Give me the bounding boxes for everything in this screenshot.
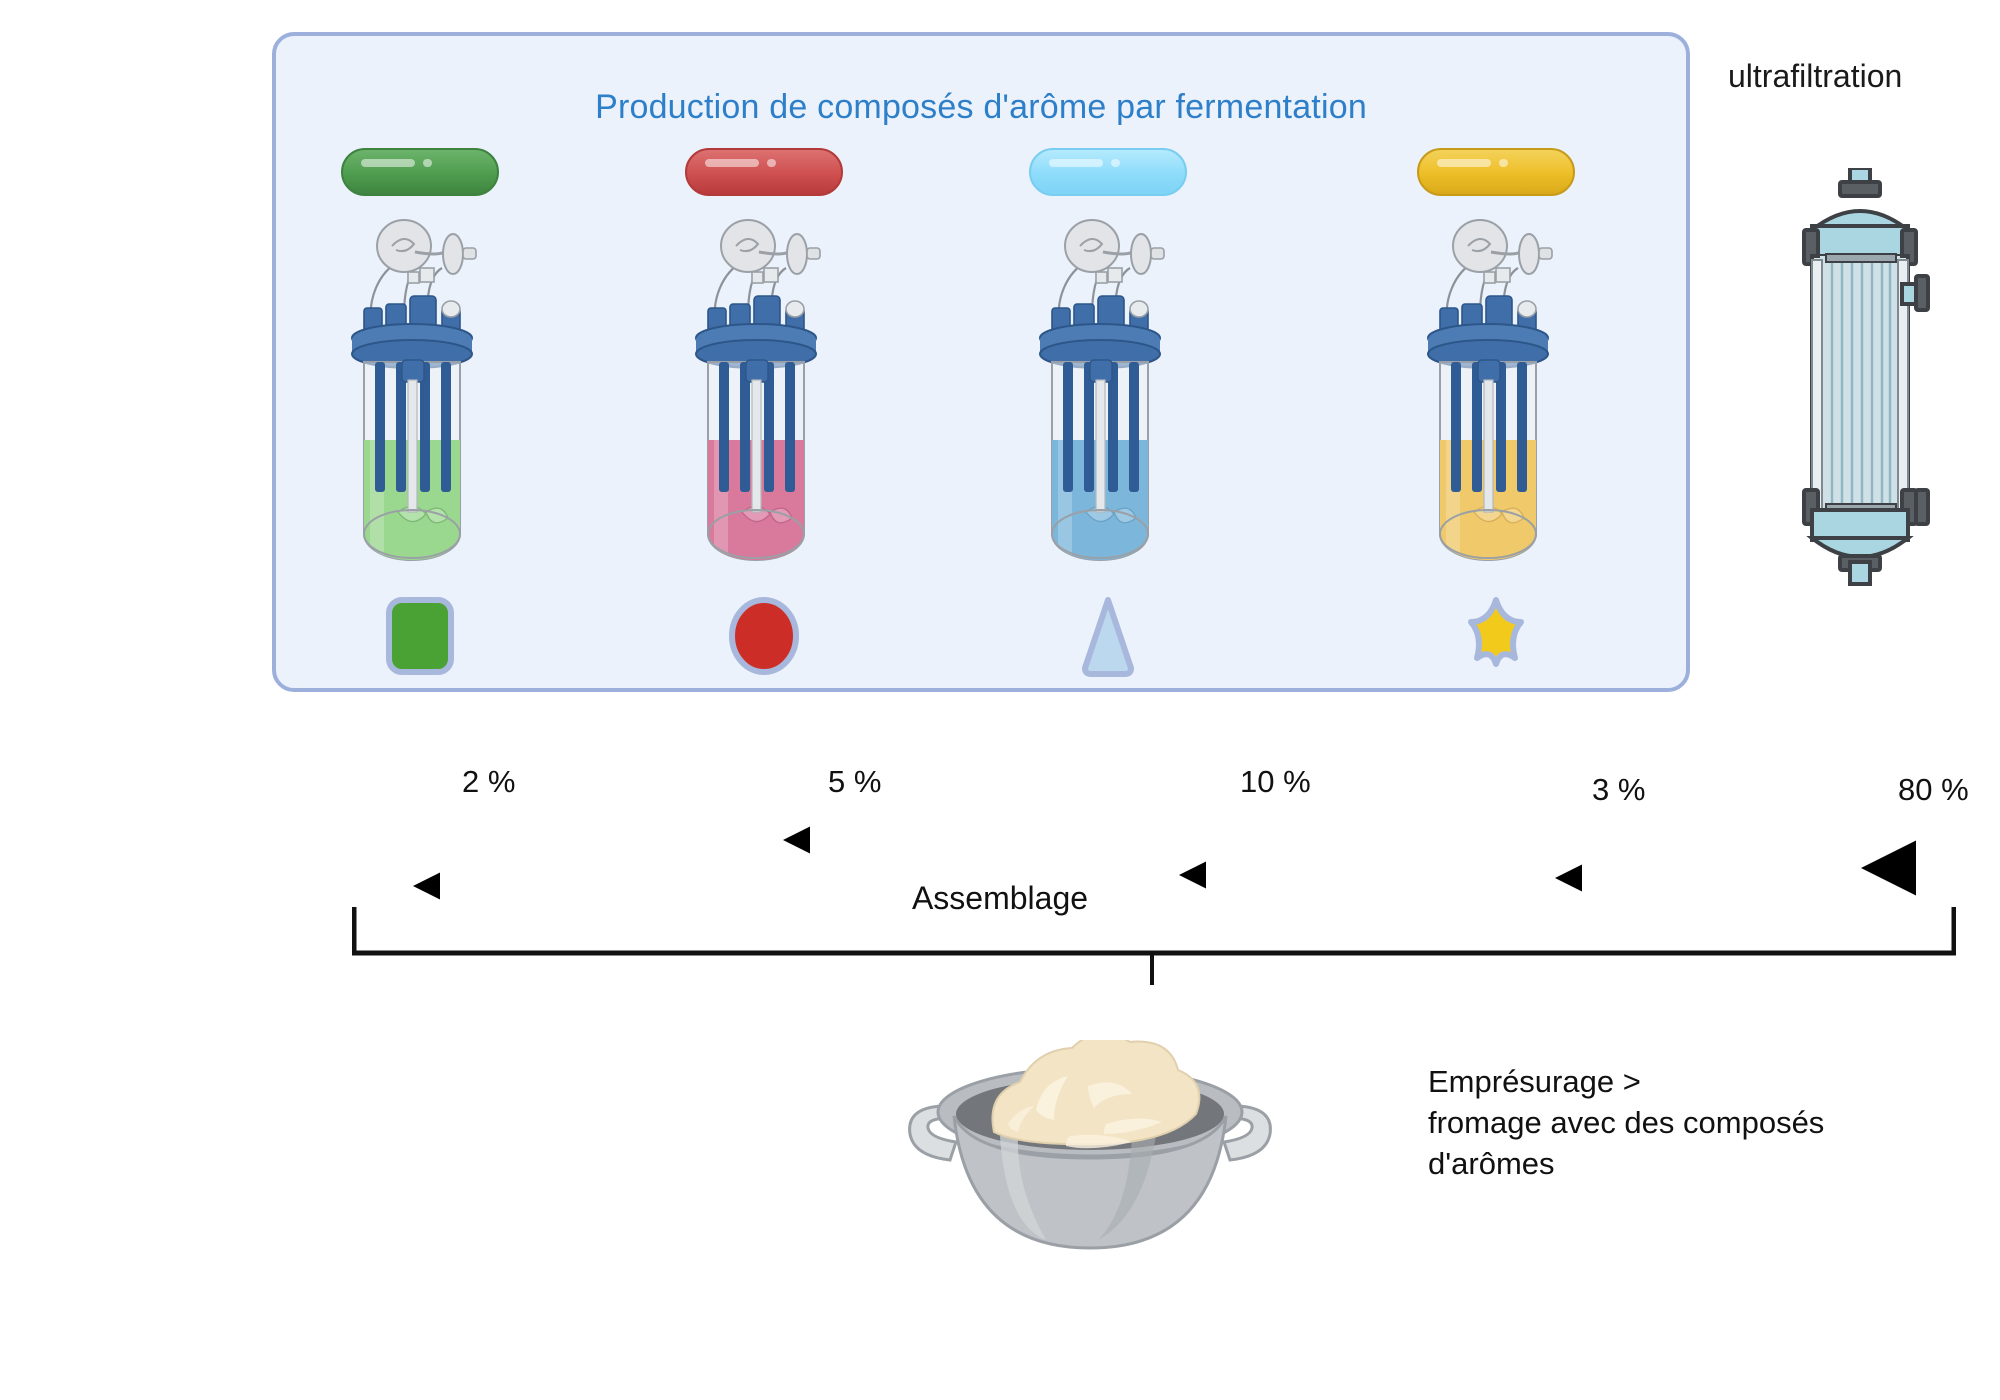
bacterium-blue-icon bbox=[1029, 148, 1187, 196]
fermentation-column-2 bbox=[644, 36, 884, 688]
capsule-highlight bbox=[1437, 159, 1491, 167]
capsule-highlight-dot bbox=[767, 159, 776, 167]
percent-label-2: 5 % bbox=[828, 764, 881, 800]
bacterium-red-icon bbox=[685, 148, 843, 196]
fermentation-column-4 bbox=[1376, 36, 1616, 688]
assemblage-bracket bbox=[352, 905, 1956, 985]
bacterium-yellow-icon bbox=[1417, 148, 1575, 196]
capsule-highlight bbox=[361, 159, 415, 167]
cheese-bowl-icon bbox=[890, 1040, 1290, 1280]
percent-label-1: 2 % bbox=[462, 764, 515, 800]
compound-shape-2 bbox=[709, 592, 819, 682]
bioreactor-3 bbox=[1008, 212, 1208, 570]
fermentation-panel: Production de composés d'arôme par ferme… bbox=[272, 32, 1690, 692]
bacterium-green-icon bbox=[341, 148, 499, 196]
diagram-canvas: Production de composés d'arôme par ferme… bbox=[0, 0, 2000, 1400]
bioreactor-1 bbox=[320, 212, 520, 570]
compound-shape-3 bbox=[1053, 592, 1163, 682]
outcome-caption: Emprésurage > fromage avec des composés … bbox=[1428, 1062, 1968, 1185]
caption-line-2: fromage avec des composés bbox=[1428, 1103, 1968, 1144]
ultrafiltration-label: ultrafiltration bbox=[1728, 58, 2000, 95]
compound-shape-1 bbox=[365, 592, 475, 682]
bioreactor-4 bbox=[1396, 212, 1596, 570]
caption-line-1: Emprésurage > bbox=[1428, 1062, 1968, 1103]
capsule-highlight-dot bbox=[423, 159, 432, 167]
compound-shape-4 bbox=[1441, 592, 1551, 682]
capsule-highlight-dot bbox=[1111, 159, 1120, 167]
ultrafiltration-module-icon bbox=[1790, 168, 1930, 628]
percent-label-4: 3 % bbox=[1592, 772, 1645, 808]
bioreactor-2 bbox=[664, 212, 864, 570]
fermentation-column-3 bbox=[988, 36, 1228, 688]
fermentation-column-1 bbox=[300, 36, 540, 688]
capsule-highlight bbox=[705, 159, 759, 167]
capsule-highlight-dot bbox=[1499, 159, 1508, 167]
percent-label-3: 10 % bbox=[1240, 764, 1311, 800]
percent-label-ultrafiltration: 80 % bbox=[1898, 772, 1969, 808]
capsule-highlight bbox=[1049, 159, 1103, 167]
caption-line-3: d'arômes bbox=[1428, 1144, 1968, 1185]
